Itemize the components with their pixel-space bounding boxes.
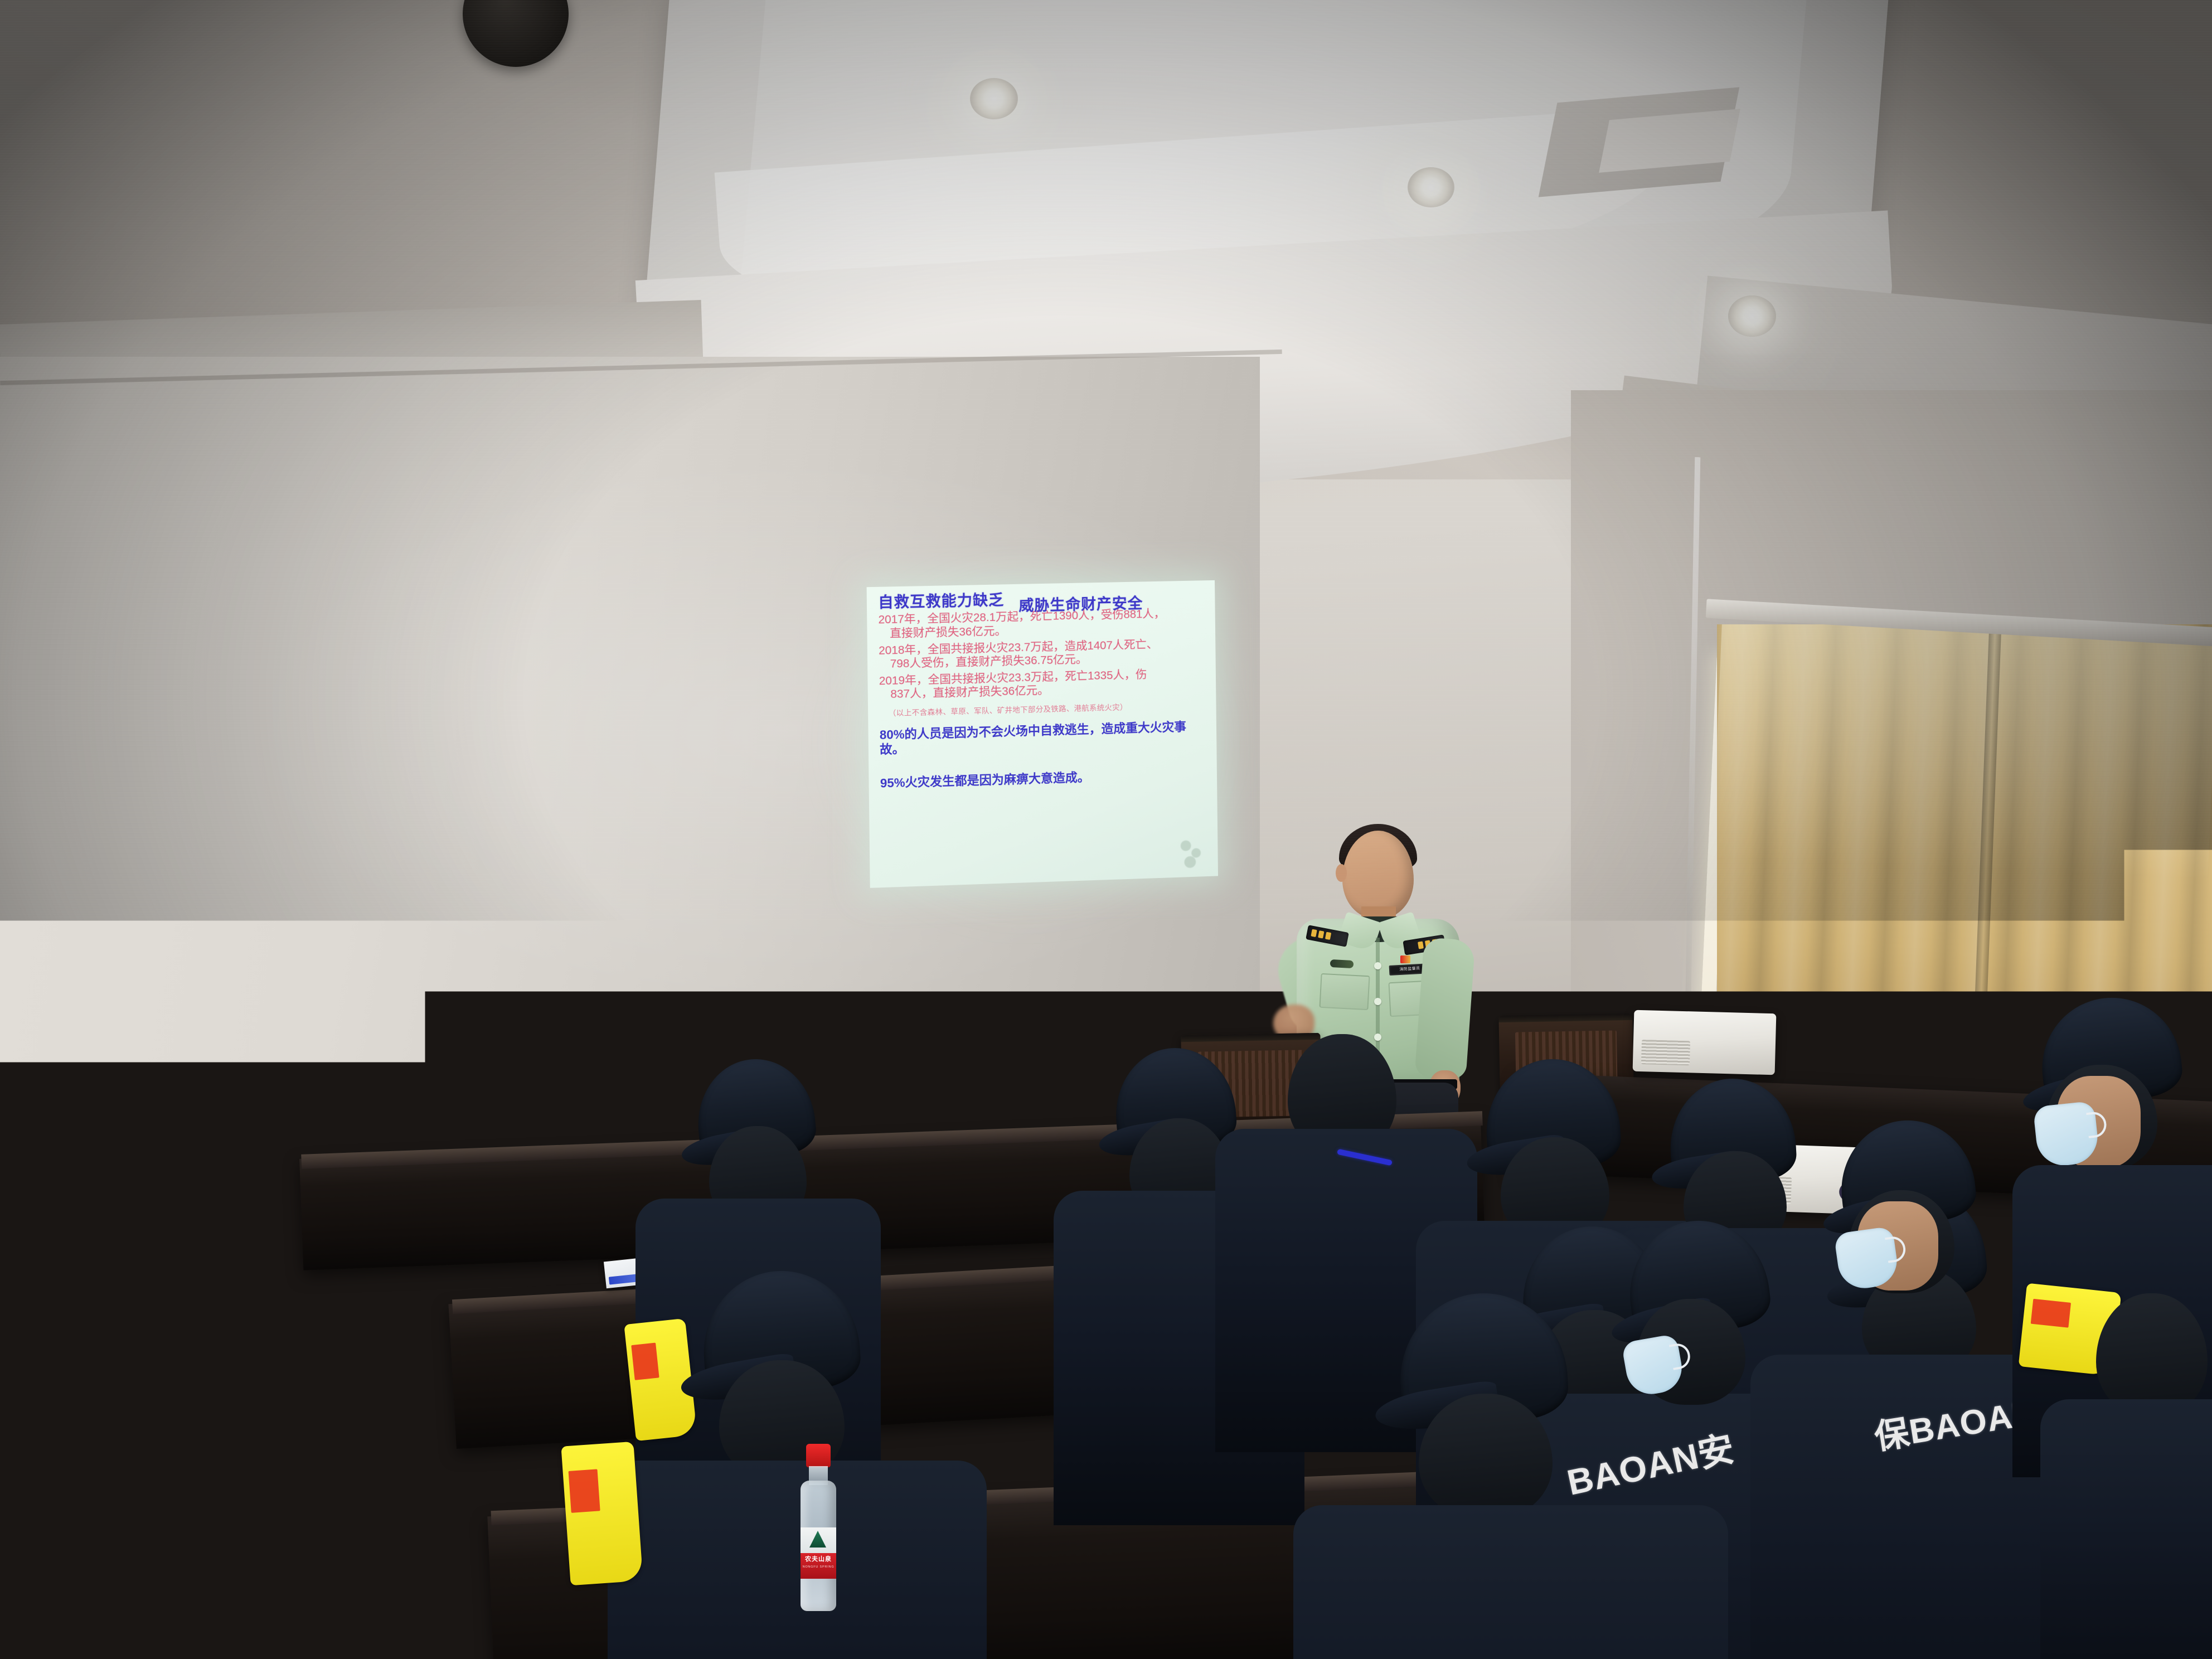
presenter-button-3 [1374, 1034, 1381, 1041]
civilian-ear [362, 1433, 424, 1516]
guard-armband-front-left [561, 1442, 643, 1585]
slide-watermark-icon [1175, 836, 1209, 871]
slide-title-part2: 威胁生命财产安全 [1018, 595, 1143, 614]
slide-highlight-95: 95%火灾发生都是因为麻痹大意造成。 [880, 767, 1209, 790]
slide-stat-2019: 2019年，全国共接报火灾23.3万起，死亡1335人，伤 837人，直接财产损… [879, 667, 1207, 702]
curtain-sheen [1717, 624, 2212, 880]
slide-title-part1: 自救互救能力缺乏 [878, 591, 1004, 611]
presenter-ear [1336, 864, 1347, 882]
presenter-chest-insignia [1330, 959, 1354, 968]
slide-stat-2018: 2018年，全国共接报火灾23.7万起，造成1407人死亡、 798人受伤，直接… [879, 637, 1207, 672]
presenter-pocket-left [1319, 973, 1370, 1011]
guard-jacket [608, 1461, 987, 1659]
civilian-shirt [45, 1578, 468, 1659]
presenter-button-1 [1374, 962, 1381, 969]
slide-highlight-80: 80%的人员是因为不会火场中自救逃生，造成重大火灾事故。 [880, 719, 1208, 757]
slide-footnote: （以上不含森林、草原、军队、矿井地下部分及铁路、港航系统火灾） [879, 698, 1207, 718]
bottle-cap [806, 1444, 831, 1467]
guard-head [1419, 1394, 1553, 1519]
water-bottle: 农夫山泉 NONGFU SPRING [798, 1444, 838, 1611]
bottle-brand-en: NONGFU SPRING [801, 1565, 836, 1569]
presenter-right-arm [1414, 937, 1475, 1080]
ceiling-light-1 [970, 78, 1018, 119]
presenter-flag-badge [1400, 955, 1410, 963]
ceiling-light-2 [1408, 167, 1454, 207]
presenter-button-2 [1374, 998, 1381, 1005]
bottle-label-lower: 农夫山泉 NONGFU SPRING [801, 1553, 836, 1579]
guard-head [2096, 1293, 2208, 1416]
bottle-brand-cn: 农夫山泉 [801, 1553, 836, 1565]
guard-jacket [2040, 1399, 2212, 1659]
meeting-room-photo: 自救互救能力缺乏威胁生命财产安全 2017年，全国火灾28.1万起，死亡1390… [0, 0, 2212, 1659]
projector-case [1633, 1010, 1777, 1075]
projected-slide: 自救互救能力缺乏威胁生命财产安全 2017年，全国火灾28.1万起，死亡1390… [867, 580, 1218, 888]
guard-jacket [1293, 1505, 1728, 1659]
ceiling-light-3 [1728, 295, 1776, 337]
